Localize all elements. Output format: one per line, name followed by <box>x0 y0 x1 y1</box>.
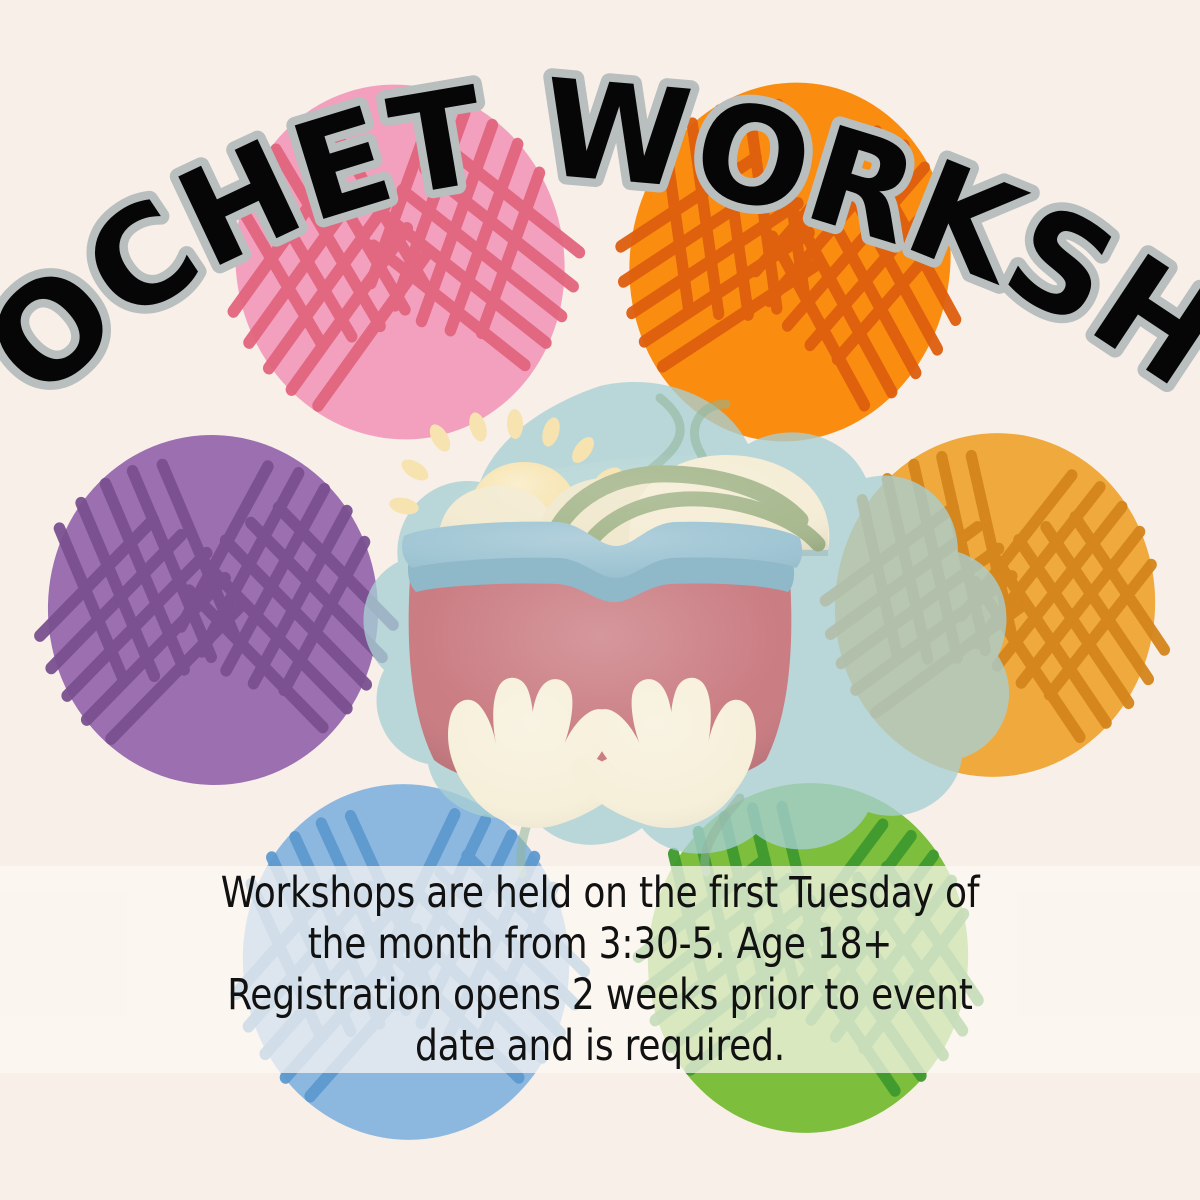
body-text: Workshops are held on the first Tuesday … <box>42 866 1158 1073</box>
poster-title-textpath: CROCHET WORKSHOP <box>0 0 1200 427</box>
poster-title-fill: CROCHET WORKSHOP <box>0 0 1200 427</box>
poster-canvas: CROCHET WORKSHOP CROCHET WORKSHOP Worksh… <box>0 0 1200 1200</box>
